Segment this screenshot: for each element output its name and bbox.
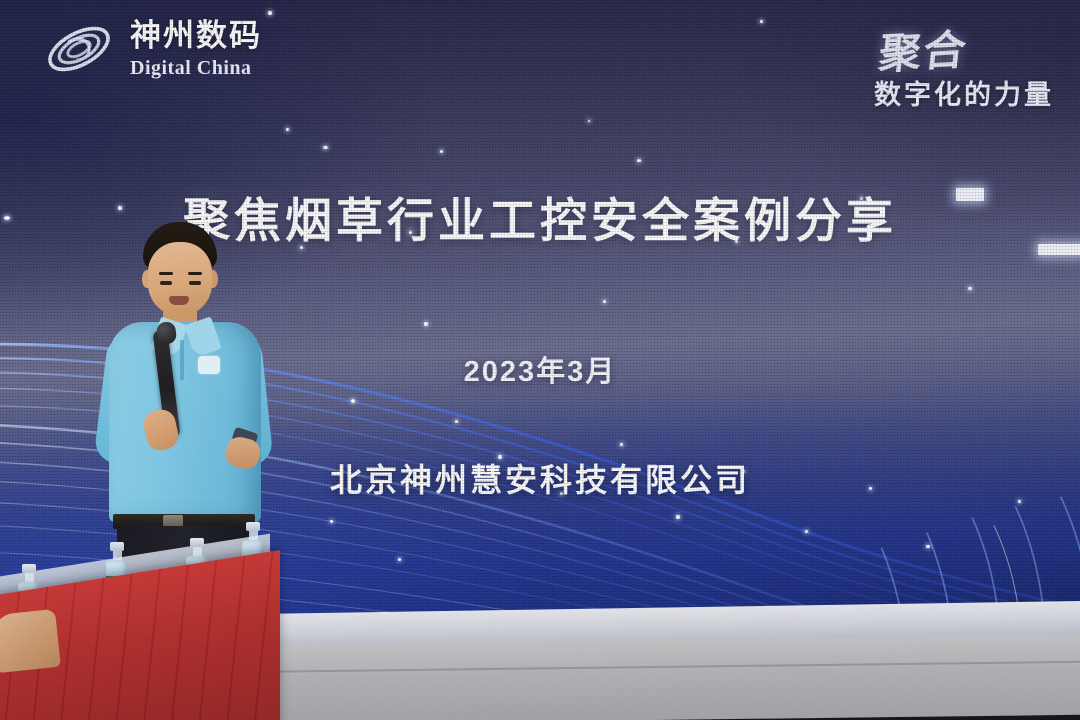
digital-china-name-en: Digital China <box>130 58 262 78</box>
speaker-shirt-placket <box>180 340 184 380</box>
speaker-mouth <box>169 296 189 305</box>
speaker-shirt-logo <box>198 356 220 374</box>
screenshot-stage: 神州数码 Digital China 聚合 数字化的力量 聚焦烟草行业工控安全案… <box>0 0 1080 720</box>
speaker-eye <box>160 281 172 285</box>
speaker-eyebrow <box>188 272 202 275</box>
digital-china-logo: 神州数码 Digital China <box>42 18 262 80</box>
seated-attendee <box>0 609 61 673</box>
swirl-galaxy-icon <box>42 18 116 80</box>
speaker-eye <box>189 281 201 285</box>
speaker-polo-shirt <box>109 322 261 522</box>
event-logo: 聚合 数字化的力量 <box>874 16 1054 112</box>
event-calligraphy-title: 聚合 <box>870 16 971 82</box>
speaker-eyebrow <box>159 272 173 275</box>
digital-china-name-cn: 神州数码 <box>130 20 262 51</box>
